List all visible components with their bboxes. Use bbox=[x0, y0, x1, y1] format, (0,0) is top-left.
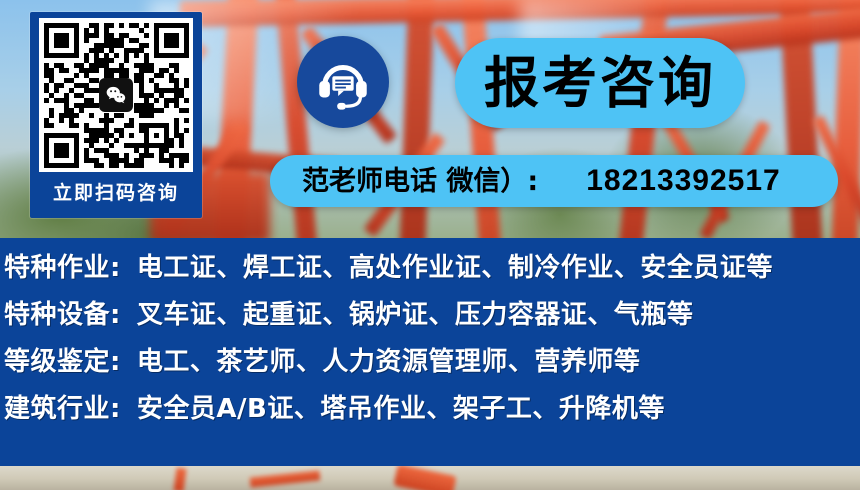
apply-consult-button[interactable]: 报考咨询 bbox=[455, 38, 745, 128]
info-row-construction-industry: 建筑行业: 安全员A/B证、塔吊作业、架子工、升降机等 bbox=[4, 396, 860, 443]
category-items: 电工、茶艺师、人力资源管理师、营养师等 bbox=[137, 349, 641, 375]
contact-phone-bar[interactable]: 范老师电话 微信）: 18213392517 bbox=[270, 155, 838, 207]
promo-banner: 立即扫码咨询 报考咨询 范老师电话 微信）: 18213392517 bbox=[0, 0, 860, 490]
category-items: 叉车证、起重证、锅炉证、压力容器证、气瓶等 bbox=[137, 302, 694, 328]
qr-caption: 立即扫码咨询 bbox=[53, 184, 179, 203]
category-items: 安全员A/B证、塔吊作业、架子工、升降机等 bbox=[137, 396, 665, 422]
certificate-categories-panel: 特种作业: 电工证、焊工证、高处作业证、制冷作业、安全员证等 特种设备: 叉车证… bbox=[0, 238, 860, 466]
category-label: 等级鉴定: bbox=[4, 349, 121, 375]
bottom-background-photo bbox=[0, 466, 860, 490]
wechat-icon bbox=[99, 78, 133, 112]
category-label: 特种设备: bbox=[4, 302, 121, 328]
contact-phone-number[interactable]: 18213392517 bbox=[586, 166, 781, 196]
category-label: 建筑行业: bbox=[4, 396, 121, 422]
info-row-grade-assessment: 等级鉴定: 电工、茶艺师、人力资源管理师、营养师等 bbox=[4, 349, 860, 396]
headset-icon bbox=[312, 51, 374, 113]
category-items: 电工证、焊工证、高处作业证、制冷作业、安全员证等 bbox=[137, 255, 773, 281]
contact-label: 范老师电话 微信）: bbox=[302, 168, 538, 195]
apply-consult-label: 报考咨询 bbox=[484, 56, 716, 111]
qr-code-panel[interactable]: 立即扫码咨询 bbox=[30, 12, 202, 218]
headset-support-badge bbox=[297, 36, 389, 128]
info-row-special-equipment: 特种设备: 叉车证、起重证、锅炉证、压力容器证、气瓶等 bbox=[4, 302, 860, 349]
qr-code-image[interactable] bbox=[39, 18, 193, 172]
info-row-special-operations: 特种作业: 电工证、焊工证、高处作业证、制冷作业、安全员证等 bbox=[4, 255, 860, 302]
category-label: 特种作业: bbox=[4, 255, 121, 281]
